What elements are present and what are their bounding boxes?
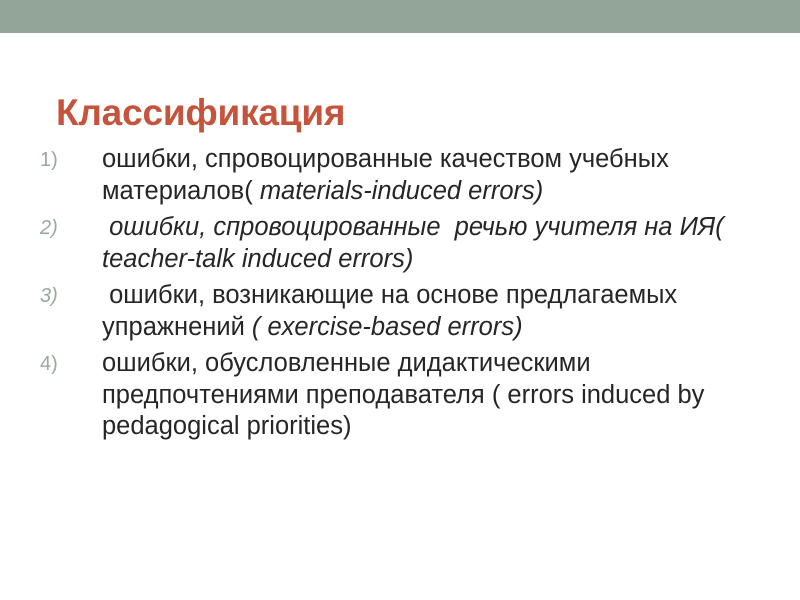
list-item-lead: ошибки, обусловленные дидактическими пре… <box>102 349 712 440</box>
decorative-top-band <box>0 0 800 33</box>
slide-canvas: Классификация 1) ошибки, спровоцированны… <box>0 0 800 600</box>
classification-list: 1) ошибки, спровоцированные качеством уч… <box>36 144 776 448</box>
list-item-number: 2) <box>40 213 80 245</box>
list-item: 4) ошибки, обусловленные дидактическими … <box>36 348 776 443</box>
list-item: 1) ошибки, спровоцированные качеством уч… <box>36 144 776 207</box>
list-item-number: 3) <box>40 281 80 313</box>
list-item-number: 4) <box>40 349 80 381</box>
list-item-text: ошибки, спровоцированные речью учителя н… <box>102 212 776 275</box>
list-item-lead: ошибки, спровоцированные речью учителя н… <box>102 213 731 273</box>
list-item-emphasis: ( exercise-based errors) <box>252 313 523 341</box>
list-item-text: ошибки, возникающие на основе предлагаем… <box>102 280 776 343</box>
list-item-number: 1) <box>40 145 80 177</box>
list-item-emphasis: materials-induced errors) <box>253 177 544 205</box>
list-item-text: ошибки, спровоцированные качеством учебн… <box>102 144 776 207</box>
list-item: 2) ошибки, спровоцированные речью учител… <box>36 212 776 275</box>
page-title: Классификация <box>56 91 345 135</box>
list-item-text: ошибки, обусловленные дидактическими пре… <box>102 348 776 443</box>
list-item: 3) ошибки, возникающие на основе предлаг… <box>36 280 776 343</box>
